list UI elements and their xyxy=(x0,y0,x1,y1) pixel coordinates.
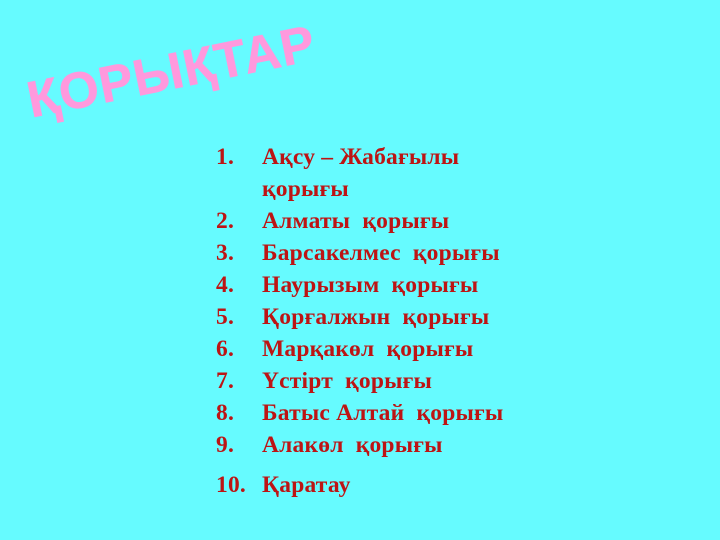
list-item-label: Үстірт қорығы xyxy=(262,365,686,397)
list-item: 9. Алакөл қорығы xyxy=(216,429,686,461)
list-item-number: 2. xyxy=(216,205,262,237)
list-item: 1. Ақсу – Жабағылы қорығы xyxy=(216,141,686,205)
list-item-label: Батыс Алтай қорығы xyxy=(262,397,686,429)
list-item-number: 9. xyxy=(216,429,262,461)
list-item: 4. Наурызым қорығы xyxy=(216,269,686,301)
slide-title-container: ҚОРЫҚТАР xyxy=(28,52,428,148)
list-item: 3. Барсакелмес қорығы xyxy=(216,237,686,269)
list-item-number: 6. xyxy=(216,333,262,365)
list-item-number: 8. xyxy=(216,397,262,429)
list-item-number: 10. xyxy=(216,469,262,501)
list-item-label: Барсакелмес қорығы xyxy=(262,237,686,269)
reserves-list: 1. Ақсу – Жабағылы қорығы 2. Алматы қоры… xyxy=(216,141,686,501)
list-item: 7. Үстірт қорығы xyxy=(216,365,686,397)
list-item: 5. Қорғалжын қорығы xyxy=(216,301,686,333)
list-item-label: Қорғалжын қорығы xyxy=(262,301,686,333)
list-item: 2. Алматы қорығы xyxy=(216,205,686,237)
list-item-label: Марқакөл қорығы xyxy=(262,333,686,365)
list-item-number: 1. xyxy=(216,141,262,173)
slide-title: ҚОРЫҚТАР xyxy=(23,16,320,127)
list-item: 8. Батыс Алтай қорығы xyxy=(216,397,686,429)
list-item: 6. Марқакөл қорығы xyxy=(216,333,686,365)
list-item-label: Ақсу – Жабағылы қорығы xyxy=(262,141,462,205)
list-item-label: Алматы қорығы xyxy=(262,205,686,237)
list-item-label: Алакөл қорығы xyxy=(262,429,686,461)
list-item: 10. Қаратау xyxy=(216,469,686,501)
list-item-number: 7. xyxy=(216,365,262,397)
slide-canvas: ҚОРЫҚТАР 1. Ақсу – Жабағылы қорығы 2. Ал… xyxy=(0,0,720,540)
list-item-number: 3. xyxy=(216,237,262,269)
list-item-number: 5. xyxy=(216,301,262,333)
list-item-number: 4. xyxy=(216,269,262,301)
list-item-label: Наурызым қорығы xyxy=(262,269,686,301)
list-item-label: Қаратау xyxy=(262,469,686,501)
